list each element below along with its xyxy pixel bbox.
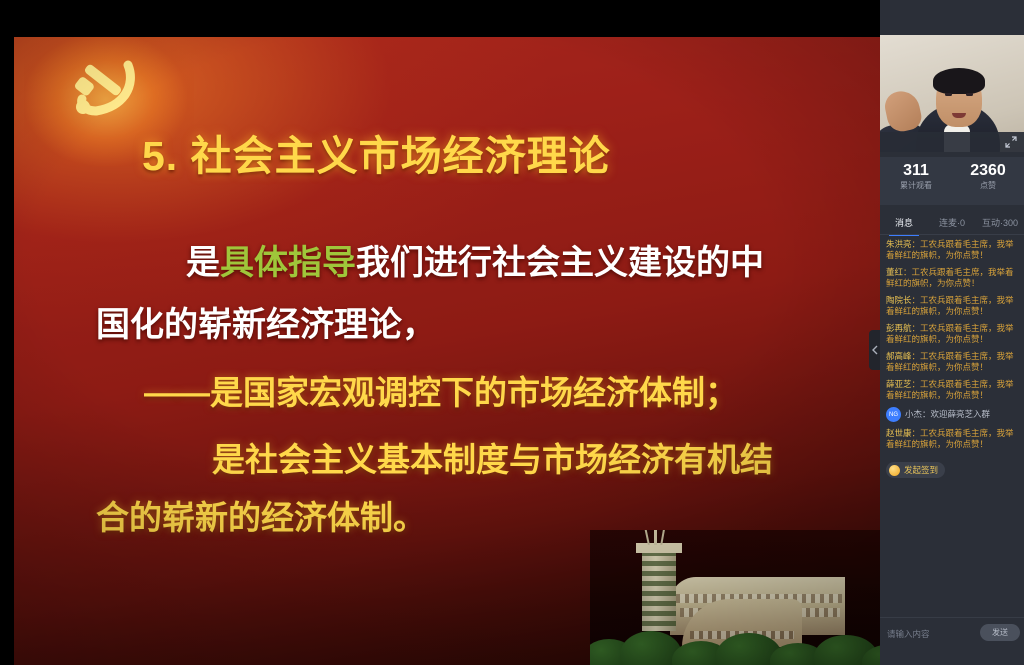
collapse-panel-handle[interactable]	[869, 330, 880, 370]
panel-tabs: 消息 连麦·0 互动·300	[880, 209, 1024, 235]
stat-views-label: 累计观看	[880, 180, 952, 192]
building-tower-stripes	[642, 551, 676, 631]
start-signin-button[interactable]: 发起签到	[886, 462, 945, 478]
tab-interaction[interactable]: 互动·300	[976, 216, 1024, 229]
slide-line-1: 是具体指导我们进行社会主义建设的中	[186, 245, 764, 282]
hammer-sickle-icon	[62, 55, 152, 129]
chat-author: 赵世康	[886, 428, 912, 438]
chat-message: 郝高峰：工农兵跟着毛主席，我举着鲜红的旗帜，为你点赞！	[886, 351, 1018, 373]
chat-author: 彭再航	[886, 323, 912, 333]
building-tower-cap	[636, 543, 682, 553]
line1-highlight: 具体指导	[220, 244, 356, 282]
chat-message: 朱洪亮：工农兵跟着毛主席，我举着鲜红的旗帜，为你点赞！	[886, 239, 1018, 261]
send-button[interactable]: 发送	[980, 624, 1020, 641]
chat-message-list[interactable]: 朱洪亮：工农兵跟着毛主席，我举着鲜红的旗帜，为你点赞！ 董红：工农兵跟着毛主席，…	[880, 236, 1024, 482]
chat-author: 陶院长	[886, 295, 912, 305]
slide-line-3: ——是国家宏观调控下的市场经济体制；	[144, 375, 738, 411]
video-toolbar	[880, 132, 1024, 152]
chat-author: 董红	[886, 267, 903, 277]
chat-text: 工农兵跟着毛主席，我举着鲜红的旗帜，为你点赞！	[886, 267, 1014, 288]
building-antenna	[654, 530, 657, 545]
presentation-stage: 5. 社会主义市场经济理论 是具体指导我们进行社会主义建设的中 国化的崭新经济理…	[0, 0, 880, 665]
slide-line-4: 是社会主义基本制度与市场经济有机结	[212, 442, 773, 478]
presenter-video[interactable]	[880, 35, 1024, 152]
chat-message: 薛亚芝：工农兵跟着毛主席，我举着鲜红的旗帜，为你点赞！	[886, 379, 1018, 401]
presenter-eye-right	[966, 93, 973, 96]
chat-author: 朱洪亮	[886, 239, 912, 249]
presenter-hair	[933, 68, 985, 94]
chat-message: 赵世康：工农兵跟着毛主席，我举着鲜红的旗帜，为你点赞！	[886, 428, 1018, 450]
campus-building-photo	[590, 530, 880, 665]
stat-likes-label: 点赞	[952, 180, 1024, 192]
tabs-divider	[880, 234, 1024, 235]
chat-message: 陶院长：工农兵跟着毛主席，我举着鲜红的旗帜，为你点赞！	[886, 295, 1018, 317]
stat-likes-value: 2360	[952, 161, 1024, 180]
line1-prefix: 是	[186, 244, 220, 282]
stat-views-value: 311	[880, 161, 952, 180]
tree-line	[590, 621, 880, 665]
message-input[interactable]: 请输入内容	[887, 628, 930, 640]
screen: 5. 社会主义市场经济理论 是具体指导我们进行社会主义建设的中 国化的崭新经济理…	[0, 0, 1024, 665]
chat-message: 彭再航：工农兵跟着毛主席，我举着鲜红的旗帜，为你点赞！	[886, 323, 1018, 345]
slide-line-2: 国化的崭新经济理论，	[96, 307, 436, 344]
chevron-left-icon	[872, 345, 878, 355]
presenter-eye-left	[945, 93, 952, 96]
message-composer: 请输入内容 发送	[880, 617, 1024, 665]
chat-message: 董红：工农兵跟着毛主席，我举着鲜红的旗帜，为你点赞！	[886, 267, 1018, 289]
chat-author: 薛亚芝	[886, 379, 912, 389]
stats-bar: 311 累计观看 2360 点赞	[880, 157, 1024, 205]
stat-views: 311 累计观看	[880, 157, 952, 205]
signin-icon	[889, 465, 900, 476]
live-sidebar: 311 累计观看 2360 点赞 消息 连麦·0 互动·300 朱洪亮：工农兵跟…	[880, 0, 1024, 665]
tab-connect[interactable]: 连麦·0	[928, 216, 976, 229]
system-avatar: NG	[886, 407, 901, 422]
slide-title: 5. 社会主义市场经济理论	[142, 122, 842, 182]
chat-author: 郝高峰	[886, 351, 912, 361]
line1-suffix: 我们进行社会主义建设的中	[356, 244, 764, 282]
slide-canvas: 5. 社会主义市场经济理论 是具体指导我们进行社会主义建设的中 国化的崭新经济理…	[14, 37, 880, 665]
signin-label: 发起签到	[904, 464, 938, 476]
slide-line-5: 合的崭新的经济体制。	[96, 500, 426, 536]
system-message: NG 小杰：欢迎薛亮芝入群	[886, 407, 1018, 422]
tab-messages[interactable]: 消息	[880, 216, 928, 229]
system-message-text: 小杰：欢迎薛亮芝入群	[905, 409, 990, 420]
stat-likes: 2360 点赞	[952, 157, 1024, 205]
expand-icon[interactable]	[1005, 136, 1017, 148]
